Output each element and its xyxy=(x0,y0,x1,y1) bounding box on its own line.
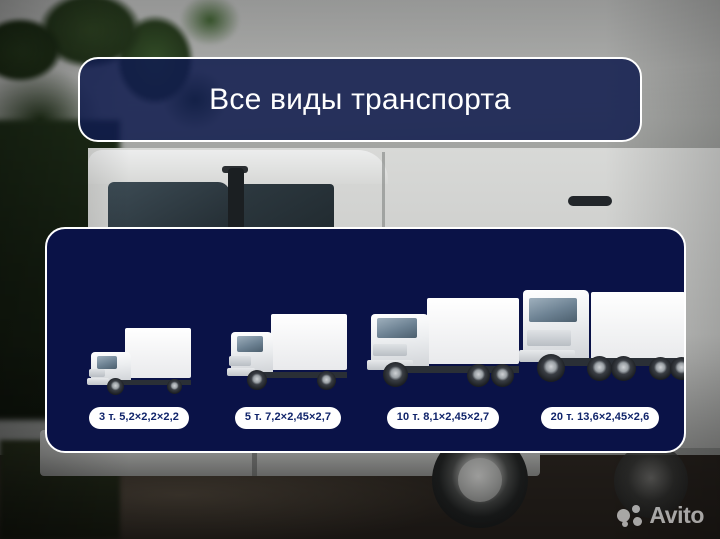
header-banner: Все виды транспорта xyxy=(78,57,642,142)
transport-item-20t[interactable]: 20 т. 13,6×2,45×2,6 xyxy=(515,286,685,429)
page-title: Все виды транспорта xyxy=(209,83,511,117)
avito-logo-icon xyxy=(617,505,643,527)
transport-label-3t: 3 т. 5,2×2,2×2,2 xyxy=(89,407,189,429)
truck-10t-icon xyxy=(365,298,521,398)
background-truck-door-handle xyxy=(568,196,612,206)
transport-label-5t: 5 т. 7,2×2,45×2,7 xyxy=(235,407,341,429)
transport-item-5t[interactable]: 5 т. 7,2×2,45×2,7 xyxy=(225,312,351,429)
transport-item-10t[interactable]: 10 т. 8,1×2,45×2,7 xyxy=(365,298,521,429)
truck-5t-icon xyxy=(225,312,351,398)
avito-watermark: Avito xyxy=(617,504,704,527)
truck-20t-icon xyxy=(515,286,685,398)
promo-image: Все виды транспорта 3 т. 5,2×2,2×2,2 xyxy=(0,0,720,539)
background-truck-mirror xyxy=(228,168,244,230)
transport-list: 3 т. 5,2×2,2×2,2 5 т. 7,2×2,45×2,7 xyxy=(47,229,684,451)
transport-label-20t: 20 т. 13,6×2,45×2,6 xyxy=(541,407,660,429)
transport-label-10t: 10 т. 8,1×2,45×2,7 xyxy=(387,407,499,429)
truck-3t-icon xyxy=(81,322,197,398)
transport-types-panel: 3 т. 5,2×2,2×2,2 5 т. 7,2×2,45×2,7 xyxy=(45,227,686,453)
transport-item-3t[interactable]: 3 т. 5,2×2,2×2,2 xyxy=(81,322,197,429)
avito-wordmark: Avito xyxy=(649,504,704,527)
